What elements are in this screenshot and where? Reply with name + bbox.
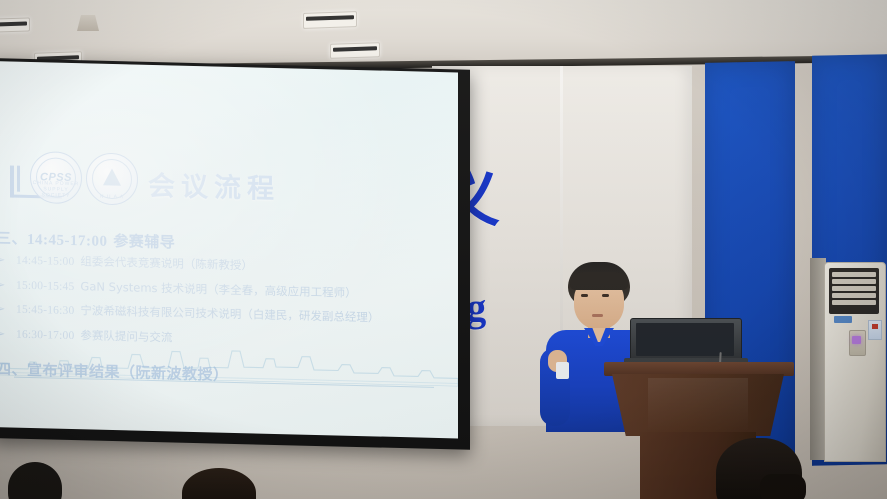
cpss-logo-subtext: CHINA POWER SUPPLY SOCIETY xyxy=(31,180,81,199)
cpss-logo: CPSS CHINA POWER SUPPLY SOCIETY xyxy=(30,151,82,204)
bullet-arrow-icon: ➢ xyxy=(0,328,10,339)
presenter-eye xyxy=(581,294,588,297)
slide-title: 会议流程 xyxy=(148,164,280,206)
podium-highlight xyxy=(648,378,748,432)
bullet-text: 宁波希磁科技有限公司技术说明（白建民，研发副总经理） xyxy=(80,305,379,324)
nuaa-logo: N U A A xyxy=(86,152,138,205)
ceiling-light-icon xyxy=(0,17,30,32)
podium-top xyxy=(604,362,794,376)
section-index: 三、 xyxy=(0,229,27,248)
nuaa-emblem-icon xyxy=(103,168,121,185)
bullet-text: GaN Systems 技术说明（李全春，高级应用工程师） xyxy=(80,281,356,299)
ceiling-light-icon xyxy=(303,11,357,29)
presenter-hair-front xyxy=(570,272,628,290)
ac-display-led xyxy=(852,336,861,344)
section-time: 14:45-17:00 xyxy=(27,232,108,250)
ac-warning-sticker xyxy=(868,320,882,340)
presenter-mouth xyxy=(592,314,603,317)
ac-brand-logo xyxy=(834,316,852,323)
slide-bullet-list: ➢ 14:45-15:00 组委会代表竞赛说明（陈新教授） ➢ 15:00-15… xyxy=(0,254,458,351)
bullet-arrow-icon: ➢ xyxy=(0,303,10,314)
laptop-screen xyxy=(636,323,734,356)
bullet-text: 参赛队提问与交流 xyxy=(80,330,172,344)
bullet-time: 15:00-15:45 xyxy=(16,280,74,293)
nuaa-logo-subtext: N U A A xyxy=(87,193,137,200)
bullet-time: 14:45-15:00 xyxy=(16,256,74,269)
bullet-time: 16:30-17:00 xyxy=(16,329,74,342)
audience-shoulder xyxy=(760,474,806,499)
presenter-eye xyxy=(602,294,609,297)
slide-section-heading: 三、14:45-17:00 参赛辅导 xyxy=(0,227,458,259)
bullet-text: 组委会代表竞赛说明（陈新教授） xyxy=(80,256,253,272)
projection-screen-frame: CPSS CHINA POWER SUPPLY SOCIETY N U A A … xyxy=(0,58,470,450)
section-title: 参赛辅导 xyxy=(113,232,175,252)
slide-accent-bar xyxy=(10,165,24,197)
ac-vents-icon xyxy=(829,268,879,314)
list-item: ➢ 15:00-15:45 GaN Systems 技术说明（李全春，高级应用工… xyxy=(0,279,458,303)
laptop[interactable] xyxy=(630,318,742,362)
bullet-arrow-icon: ➢ xyxy=(0,254,10,265)
bullet-arrow-icon: ➢ xyxy=(0,279,10,290)
presenter-badge xyxy=(556,362,569,379)
bullet-time: 15:45-16:30 xyxy=(16,305,74,318)
list-item: ➢ 15:45-16:30 宁波希磁科技有限公司技术说明（白建民，研发副总经理） xyxy=(0,303,458,327)
conference-photo: 义 ng CPSS CHINA POWER SUPPLY SOCIETY N U… xyxy=(0,0,887,499)
ceiling-light-icon xyxy=(330,42,380,59)
projection-screen: CPSS CHINA POWER SUPPLY SOCIETY N U A A … xyxy=(0,61,458,438)
